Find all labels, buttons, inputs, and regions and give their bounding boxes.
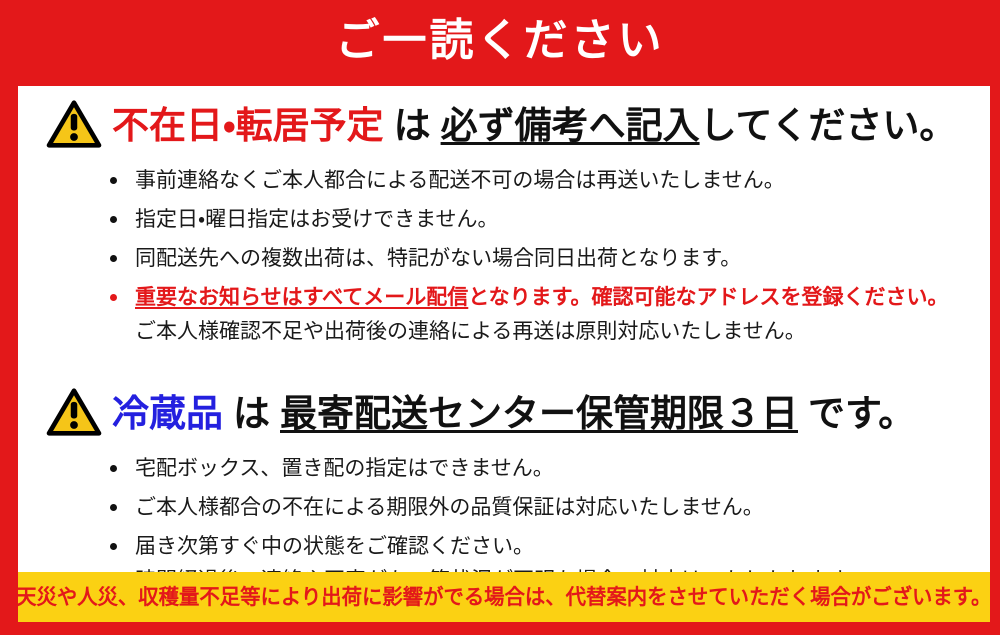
section-2-heading-plain-1: は (233, 392, 270, 435)
footer-notice-text: 天災や人災、収穫量不足等により出荷に影響がでる場合は、代替案内をさせていただく場… (16, 587, 991, 608)
frame-border-bottom (0, 622, 1000, 635)
warning-triangle-icon (46, 99, 102, 149)
page-title: ご一読ください (336, 19, 665, 63)
section-1-subline: ご本人様確認不足や出荷後の連絡による再送は原則対応いたしません。 (18, 316, 990, 346)
section-2-heading: 冷蔵品は最寄配送センター保管期限３日です。 (18, 380, 990, 444)
list-item: 宅配ボックス、置き配の指定はできません。 (18, 453, 990, 483)
list-item-important: 重要なお知らせはすべてメール配信となります。確認可能なアドレスを登録ください。 (18, 282, 990, 312)
section-1-heading-highlight: 不在日・転居予定 (112, 104, 384, 147)
footer-notice-banner: 天災や人災、収穫量不足等により出荷に影響がでる場合は、代替案内をさせていただく場… (18, 572, 990, 622)
list-item-text: 事前連絡なくご本人都合による配送不可の場合は再送いたしません。 (135, 165, 785, 195)
notice-poster: ご一読ください 不在日・転居予定は必ず備考へ記入してください。 事前連絡なくご本… (0, 0, 1000, 635)
bullet-dot-icon (110, 504, 117, 511)
bullet-dot-icon (110, 543, 117, 550)
frame-border-left (0, 0, 18, 635)
list-item-text: 同配送先への複数出荷は、特記がない場合同日出荷となります。 (135, 243, 741, 273)
list-item-text-underlined: 重要なお知らせはすべてメール配信 (135, 285, 468, 309)
list-item-text-rest: となります。確認可能なアドレスを登録ください。 (468, 285, 948, 309)
section-1-heading-underlined: 必ず備考へ記入 (441, 104, 700, 147)
list-item-text: 届き次第すぐ中の状態をご確認ください。 (135, 531, 534, 561)
bullet-dot-icon (110, 216, 117, 223)
bullet-dot-icon (110, 294, 117, 301)
list-item-text: ご本人様都合の不在による期限外の品質保証は対応いたしません。 (135, 492, 764, 522)
section-1-heading-plain-1: は (394, 104, 431, 147)
section-2-bullet-list: 宅配ボックス、置き配の指定はできません。 ご本人様都合の不在による期限外の品質保… (18, 453, 990, 561)
section-2-heading-text: 冷蔵品は最寄配送センター保管期限３日です。 (112, 395, 915, 432)
header-band: ご一読ください (0, 0, 1000, 86)
list-item-text-important: 重要なお知らせはすべてメール配信となります。確認可能なアドレスを登録ください。 (135, 282, 949, 312)
section-2-heading-plain-2: です。 (808, 392, 915, 435)
list-item: 届き次第すぐ中の状態をご確認ください。 (18, 531, 990, 561)
bullet-dot-icon (110, 177, 117, 184)
frame-border-right (990, 0, 1000, 635)
content-area: 不在日・転居予定は必ず備考へ記入してください。 事前連絡なくご本人都合による配送… (18, 86, 990, 566)
list-item-text: 宅配ボックス、置き配の指定はできません。 (135, 453, 554, 483)
list-item-text: 指定日・曜日指定はお受けできません。 (135, 204, 499, 234)
section-1-heading: 不在日・転居予定は必ず備考へ記入してください。 (18, 92, 990, 156)
section-1-bullet-list: 事前連絡なくご本人都合による配送不可の場合は再送いたしません。 指定日・曜日指定… (18, 165, 990, 312)
bullet-dot-icon (110, 465, 117, 472)
section-1-heading-plain-2: してください。 (700, 104, 957, 147)
section-2-heading-underlined: 最寄配送センター保管期限３日 (280, 392, 798, 435)
list-item: ご本人様都合の不在による期限外の品質保証は対応いたしません。 (18, 492, 990, 522)
list-item: 指定日・曜日指定はお受けできません。 (18, 204, 990, 234)
list-item: 同配送先への複数出荷は、特記がない場合同日出荷となります。 (18, 243, 990, 273)
list-item: 事前連絡なくご本人都合による配送不可の場合は再送いたしません。 (18, 165, 990, 195)
section-2-heading-highlight: 冷蔵品 (112, 392, 223, 435)
warning-triangle-icon (46, 387, 102, 437)
section-1-heading-text: 不在日・転居予定は必ず備考へ記入してください。 (112, 107, 956, 144)
bullet-dot-icon (110, 255, 117, 262)
